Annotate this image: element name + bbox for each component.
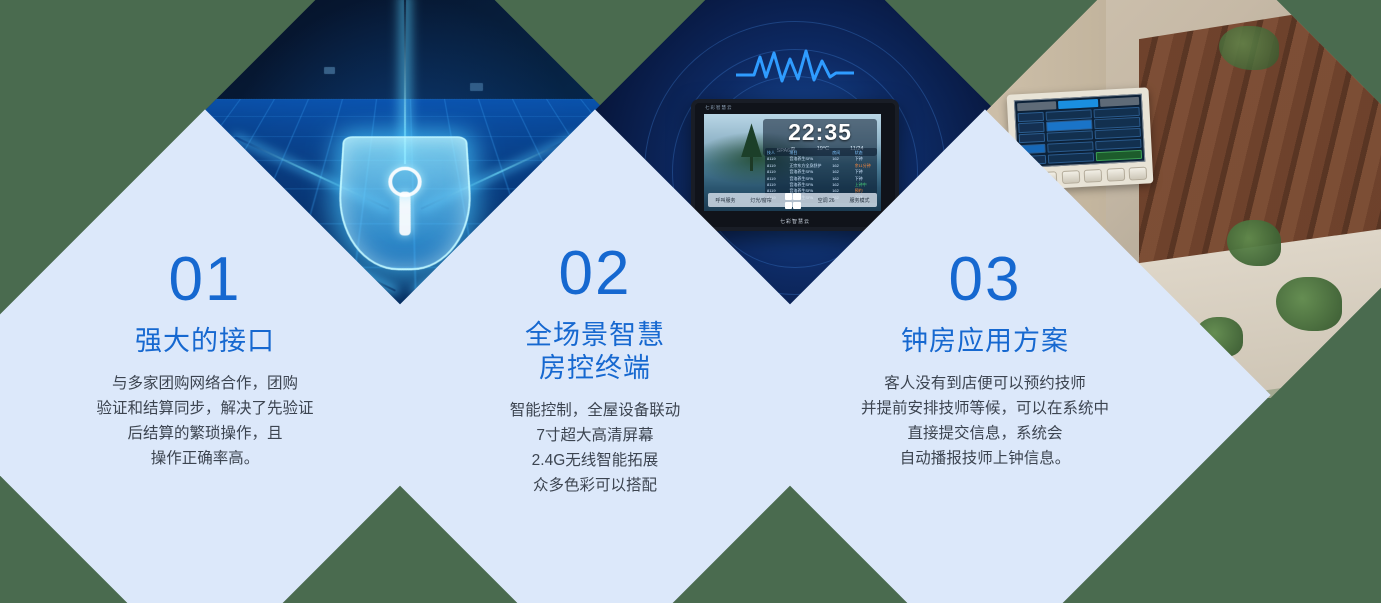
list-item[interactable]	[1094, 117, 1140, 129]
panel-title-03: 钟房应用方案	[901, 325, 1069, 358]
desc-line: 7寸超大高清屏幕	[510, 423, 681, 448]
title-line: 全场景智慧	[525, 319, 665, 352]
list-item[interactable]	[1047, 141, 1093, 153]
plant-icon	[1227, 220, 1281, 266]
list-item[interactable]	[1047, 130, 1093, 142]
hw-button-6[interactable]	[1129, 166, 1148, 180]
btn-call-service[interactable]: 呼叫服务	[715, 197, 735, 204]
control-tab-settings[interactable]	[1100, 97, 1140, 107]
list-item[interactable]	[1046, 109, 1092, 121]
title-line: 房控终端	[525, 352, 665, 385]
side-item-2[interactable]	[1018, 122, 1044, 133]
hw-button-4[interactable]	[1084, 168, 1103, 182]
tablet-brand-mark: 七彩智慧云	[705, 105, 733, 111]
hw-button-3[interactable]	[1062, 170, 1081, 184]
grid-home-icon[interactable]	[785, 193, 801, 209]
list-item[interactable]	[1095, 128, 1141, 140]
hw-button-5[interactable]	[1106, 167, 1125, 181]
desc-line: 客人没有到店便可以预约技师	[861, 371, 1109, 396]
control-list-right[interactable]	[1094, 106, 1143, 161]
desc-line: 验证和结算同步，解决了先验证	[96, 396, 313, 421]
desc-line: 2.4G无线智能拓展	[510, 448, 681, 473]
panel-number-02: 02	[559, 243, 632, 305]
control-tab-scene[interactable]	[1017, 101, 1057, 111]
feature-panel-03-content: 03 钟房应用方案 客人没有到店便可以预约技师 并提前安排技师等候，可以在系统中…	[783, 193, 1187, 597]
control-panel-body	[1018, 106, 1143, 165]
list-item-selected[interactable]	[1046, 120, 1092, 132]
panel-number-03: 03	[949, 249, 1022, 311]
list-item[interactable]	[1095, 139, 1141, 151]
desc-line: 智能控制，全屋设备联动	[510, 398, 681, 423]
chip-block-icon	[470, 83, 483, 91]
chip-block-icon	[324, 67, 335, 74]
panel-number-01: 01	[169, 249, 242, 311]
side-item-3[interactable]	[1019, 133, 1045, 144]
control-list-left[interactable]	[1046, 109, 1095, 164]
btn-aircon[interactable]: 空调 26	[818, 197, 835, 204]
desc-line: 自动播报技师上钟信息。	[861, 446, 1109, 471]
promo-banner: 七彩智慧云 22:35 SPA6房 19°C 11/24	[0, 0, 1381, 603]
list-item[interactable]	[1048, 152, 1094, 164]
list-item[interactable]	[1094, 106, 1140, 118]
control-panel-screen[interactable]	[1014, 94, 1145, 169]
desc-line: 后结算的繁琐操作，且	[96, 421, 313, 446]
desc-line: 操作正确率高。	[96, 446, 313, 471]
desc-line: 直接提交信息，系统会	[861, 421, 1109, 446]
list-item-confirm[interactable]	[1096, 149, 1142, 161]
tablet-device-icon: 七彩智慧云 22:35 SPA6房 19°C 11/24	[691, 99, 899, 231]
panel-title-01: 强大的接口	[135, 325, 275, 358]
tablet-screen: 22:35 SPA6房 19°C 11/24 技人 项目 房间 状态	[704, 114, 881, 211]
btn-light-curtain[interactable]: 灯光/窗帘	[750, 197, 771, 204]
tablet-logo-label: 七彩智慧云	[695, 218, 895, 225]
panel-description-03: 客人没有到店便可以预约技师 并提前安排技师等候，可以在系统中 直接提交信息，系统…	[861, 371, 1109, 471]
desc-line: 并提前安排技师等候，可以在系统中	[861, 396, 1109, 421]
wallpaper-tree-icon	[750, 135, 753, 171]
panel-description-01: 与多家团购网络合作，团购 验证和结算同步，解决了先验证 后结算的繁琐操作，且 操…	[96, 371, 313, 471]
desc-line: 与多家团购网络合作，团购	[96, 371, 313, 396]
side-item-1[interactable]	[1018, 111, 1044, 122]
btn-service-mode[interactable]: 服务模式	[850, 197, 870, 204]
control-tab-room-service[interactable]	[1059, 99, 1099, 109]
desc-line: 众多色彩可以搭配	[510, 473, 681, 498]
panel-title-02: 全场景智慧 房控终端	[525, 319, 665, 385]
clock-time: 22:35	[766, 121, 874, 144]
panel-description-02: 智能控制，全屋设备联动 7寸超大高清屏幕 2.4G无线智能拓展 众多色彩可以搭配	[510, 398, 681, 498]
ecg-waveform-icon	[736, 47, 854, 87]
